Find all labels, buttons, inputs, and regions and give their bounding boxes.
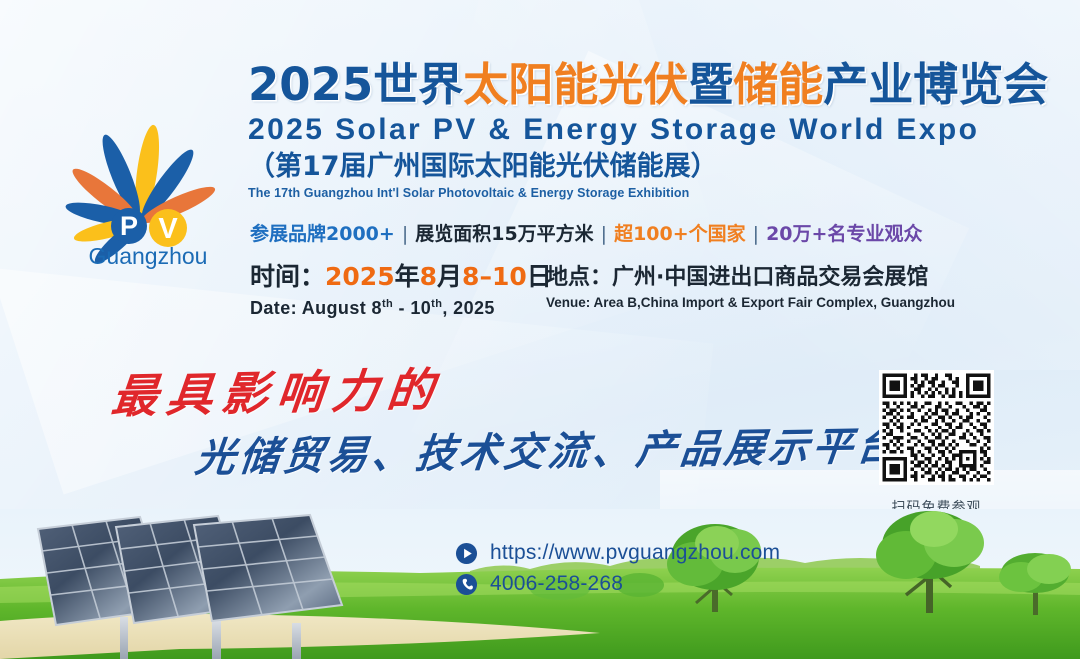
- play-circle-icon: [455, 542, 478, 565]
- stats-separator-2: |: [601, 223, 607, 245]
- phone-number[interactable]: 4006-258-268: [490, 572, 623, 596]
- title-sub-chinese: （第17届广州国际太阳能光伏储能展）: [248, 151, 1038, 183]
- logo-letter-p: P: [120, 211, 138, 241]
- slogan-line-2: 光储贸易、技术交流、产品展示平台！: [193, 421, 948, 482]
- title-part-2: 太阳能光伏: [463, 58, 688, 111]
- date-month-unit: 月: [437, 262, 462, 291]
- panel-array-3: [194, 515, 342, 621]
- pv-guangzhou-logo: P V Guangzhou: [52, 104, 232, 272]
- date-year-unit: 年: [395, 262, 420, 291]
- date-en-sup-1: th: [382, 298, 393, 310]
- panel-poles: [120, 617, 301, 659]
- header-block: 2025世界太阳能光伏暨储能产业博览会 2025 Solar PV & Ener…: [248, 60, 1038, 201]
- date-en-suffix: , 2025: [442, 298, 494, 318]
- title-chinese: 2025世界太阳能光伏暨储能产业博览会: [248, 60, 1038, 110]
- venue-english: Venue: Area B,China Import & Export Fair…: [546, 294, 955, 312]
- venue-block: 地点：广州·中国进出口商品交易会展馆 Venue: Area B,China I…: [546, 264, 955, 312]
- stats-separator-1: |: [402, 223, 408, 245]
- date-days: 8–10: [462, 262, 527, 291]
- stat-area: 展览面积15万平方米: [415, 223, 593, 245]
- title-part-3: 暨: [688, 58, 733, 111]
- qr-block: 扫码免费参观: [879, 370, 994, 517]
- title-part-1: 2025世界: [248, 58, 463, 111]
- date-month: 8: [420, 262, 437, 291]
- qr-code-image[interactable]: [879, 370, 994, 485]
- website-row[interactable]: https://www.pvguangzhou.com: [455, 541, 780, 565]
- slogan-line-1: 最具影响力的: [109, 363, 445, 424]
- solar-panel-array: [20, 499, 460, 659]
- date-year: 2025: [325, 262, 395, 291]
- date-en-prefix: Date: August 8: [250, 298, 382, 318]
- date-en-sup-2: th: [431, 298, 442, 310]
- date-block: 时间：2025年8月8–10日 Date: August 8th - 10th,…: [250, 262, 552, 320]
- venue-label: 地点：: [546, 265, 612, 290]
- date-label: 时间：: [250, 262, 325, 291]
- logo-letter-v: V: [158, 213, 178, 245]
- date-en-mid: - 10: [393, 298, 431, 318]
- logo-city-label: Guangzhou: [89, 243, 208, 269]
- stat-brands: 参展品牌2000+: [250, 223, 395, 245]
- phone-circle-icon: [455, 573, 478, 596]
- expo-poster: P V Guangzhou 2025世界太阳能光伏暨储能产业博览会 2025 S…: [0, 0, 1080, 659]
- title-sub-english: The 17th Guangzhou Int'l Solar Photovolt…: [248, 185, 1038, 201]
- date-english: Date: August 8th - 10th, 2025: [250, 293, 552, 320]
- stats-strip: 参展品牌2000+|展览面积15万平方米|超100+个国家|20万+名专业观众: [250, 222, 922, 246]
- contact-block: https://www.pvguangzhou.com 4006-258-268: [455, 541, 780, 603]
- title-english: 2025 Solar PV & Energy Storage World Exp…: [248, 112, 1038, 148]
- venue-chinese: 地点：广州·中国进出口商品交易会展馆: [546, 264, 955, 292]
- venue-value: 广州·中国进出口商品交易会展馆: [612, 265, 928, 290]
- stat-visitors: 20万+名专业观众: [766, 223, 922, 245]
- title-part-5: 产业博览会: [823, 58, 1048, 111]
- stat-countries: 超100+个国家: [614, 223, 746, 245]
- title-part-4: 储能: [733, 58, 823, 111]
- date-chinese: 时间：2025年8月8–10日: [250, 262, 552, 292]
- website-url[interactable]: https://www.pvguangzhou.com: [490, 541, 780, 565]
- phone-row[interactable]: 4006-258-268: [455, 572, 780, 596]
- stats-separator-3: |: [753, 223, 759, 245]
